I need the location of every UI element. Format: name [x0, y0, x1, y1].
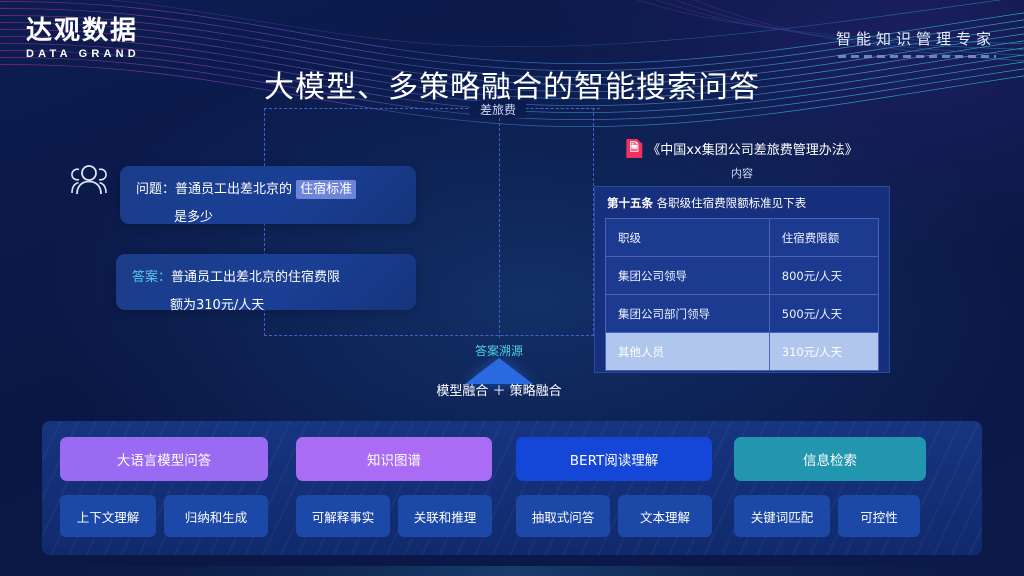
capability-subitem[interactable]: 归纳和生成	[164, 495, 268, 537]
table-cell: 800元/人天	[769, 257, 878, 295]
table-cell: 集团公司部门领导	[606, 295, 770, 333]
users-icon	[64, 160, 110, 200]
table-cell: 集团公司领导	[606, 257, 770, 295]
table-cell: 500元/人天	[769, 295, 878, 333]
capability-card[interactable]: 大语言模型问答	[60, 437, 268, 481]
capability-subitem[interactable]: 可解释事实	[296, 495, 390, 537]
capability-column: BERT阅读理解抽取式问答文本理解	[516, 437, 712, 537]
capability-panel: 大语言模型问答上下文理解归纳和生成知识图谱可解释事实关联和推理BERT阅读理解抽…	[42, 421, 982, 555]
capability-subitems: 抽取式问答文本理解	[516, 495, 712, 537]
document-title: 🗎 《中国xx集团公司差旅费管理办法》	[626, 139, 857, 158]
capability-column: 知识图谱可解释事实关联和推理	[296, 437, 492, 537]
capability-card[interactable]: 信息检索	[734, 437, 926, 481]
table-row: 集团公司部门领导500元/人天	[606, 295, 879, 333]
clause-number: 第十五条	[607, 196, 653, 210]
flow-frame-right-connector	[540, 108, 600, 109]
capability-subitems: 上下文理解归纳和生成	[60, 495, 268, 537]
brand-logo: 达观数据 DATA GRAND	[26, 18, 140, 60]
answer-bubble: 答案：普通员工出差北京的住宿费限 额为310元/人天	[116, 254, 416, 310]
page-title: 大模型、多策略融合的智能搜索问答	[0, 62, 1024, 106]
standards-table: 职级住宿费限额集团公司领导800元/人天集团公司部门领导500元/人天其他人员3…	[605, 218, 879, 371]
document-card: 第十五条 各职级住宿费限额标准见下表 职级住宿费限额集团公司领导800元/人天集…	[594, 186, 890, 373]
table-row: 其他人员310元/人天	[606, 333, 879, 371]
capability-subitem[interactable]: 可控性	[838, 495, 920, 537]
question-highlight: 住宿标准	[296, 180, 356, 199]
source-trace-label: 答案溯源	[475, 342, 523, 359]
clause-heading: 第十五条 各职级住宿费限额标准见下表	[595, 187, 889, 218]
tagline-underline	[838, 55, 996, 58]
capability-column: 信息检索关键词匹配可控性	[734, 437, 926, 537]
capability-card[interactable]: BERT阅读理解	[516, 437, 712, 481]
capability-subitems: 可解释事实关联和推理	[296, 495, 492, 537]
capability-subitem[interactable]: 关键词匹配	[734, 495, 830, 537]
capability-subitem[interactable]: 上下文理解	[60, 495, 156, 537]
capability-subitem[interactable]: 关联和推理	[398, 495, 492, 537]
brand-tagline: 智能知识管理专家	[836, 28, 996, 58]
answer-text-line1: 普通员工出差北京的住宿费限	[171, 270, 340, 285]
fusion-label: 模型融合 ＋ 策略融合	[436, 380, 561, 399]
capability-card[interactable]: 知识图谱	[296, 437, 492, 481]
brand-name-en: DATA GRAND	[26, 48, 140, 60]
flow-frame-center-connector	[499, 108, 500, 338]
capability-subitems: 关键词匹配可控性	[734, 495, 926, 537]
question-text-line2: 是多少	[136, 204, 400, 232]
pdf-icon: 🗎	[626, 139, 642, 158]
document-title-text: 《中国xx集团公司差旅费管理办法》	[647, 139, 857, 158]
brand-name-cn: 达观数据	[26, 18, 140, 45]
question-text: 普通员工出差北京的	[175, 182, 292, 197]
capability-column: 大语言模型问答上下文理解归纳和生成	[60, 437, 268, 537]
question-bubble: 问题：普通员工出差北京的 住宿标准 是多少	[120, 166, 416, 224]
document-subtitle: 内容	[731, 165, 753, 181]
flow-frame-label: 差旅费	[470, 101, 526, 118]
answer-text-line2: 额为310元/人天	[132, 292, 400, 320]
capability-subitem[interactable]: 文本理解	[618, 495, 712, 537]
table-header-cell: 职级	[606, 219, 770, 257]
table-header-row: 职级住宿费限额	[606, 219, 879, 257]
table-row: 集团公司领导800元/人天	[606, 257, 879, 295]
clause-text: 各职级住宿费限额标准见下表	[657, 196, 807, 210]
tagline-text: 智能知识管理专家	[836, 28, 996, 49]
answer-label: 答案：	[132, 270, 171, 285]
table-header-cell: 住宿费限额	[769, 219, 878, 257]
standards-table-body: 职级住宿费限额集团公司领导800元/人天集团公司部门领导500元/人天其他人员3…	[606, 219, 879, 371]
capability-subitem[interactable]: 抽取式问答	[516, 495, 610, 537]
table-cell: 其他人员	[606, 333, 770, 371]
slide-root: 达观数据 DATA GRAND 智能知识管理专家 大模型、多策略融合的智能搜索问…	[0, 0, 1024, 576]
question-label: 问题：	[136, 182, 175, 197]
table-cell: 310元/人天	[769, 333, 878, 371]
